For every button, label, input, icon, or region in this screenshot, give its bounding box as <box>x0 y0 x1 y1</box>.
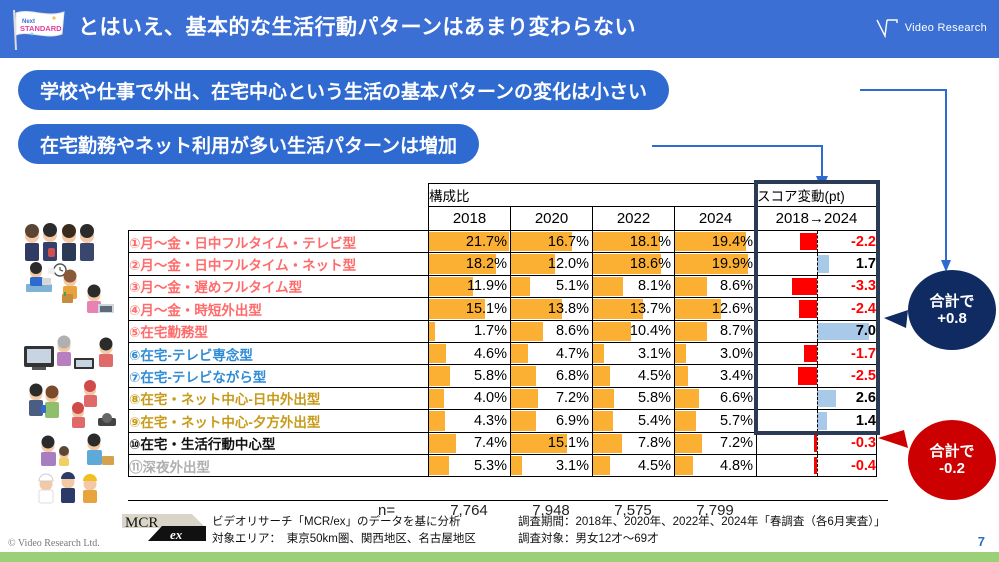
cell-value: 18.1% <box>593 231 675 253</box>
value-text: 21.7% <box>466 234 510 250</box>
cell-score-change: -2.5 <box>757 365 877 387</box>
data-table-wrapper: 構成比 スコア変動(pt) 2018 2020 2022 2024 2018→2… <box>128 183 877 477</box>
illus-office-worker <box>26 262 66 292</box>
zero-axis <box>817 388 818 409</box>
value-bar <box>429 411 445 430</box>
value-bar <box>429 344 446 363</box>
cell-value: 5.4% <box>593 410 675 432</box>
value-text: 18.6% <box>630 256 674 272</box>
value-bar <box>675 322 707 341</box>
value-text: 19.4% <box>712 234 756 250</box>
next-standard-flag-icon: Next STANDARD <box>8 6 70 52</box>
zero-axis <box>817 343 818 364</box>
illus-night-workers <box>39 472 97 503</box>
table-row: ⑥在宅-テレビ専念型4.6%4.7%3.1%3.0%-1.7 <box>129 342 877 364</box>
cell-value: 5.3% <box>429 454 511 476</box>
table-row: ③月～金・遅めフルタイム型11.9%5.1%8.1%8.6%-3.3 <box>129 275 877 297</box>
value-bar <box>675 366 688 385</box>
value-text: 7.2% <box>720 435 756 451</box>
zero-axis <box>817 455 818 476</box>
cell-value: 7.4% <box>429 432 511 454</box>
value-bar <box>593 411 613 430</box>
cell-value: 3.1% <box>511 454 593 476</box>
cell-value: 7.8% <box>593 432 675 454</box>
value-text: 19.9% <box>712 256 756 272</box>
table-row: ⑨在宅・ネット中心-夕方外出型4.3%6.9%5.4%5.7%1.4 <box>129 410 877 432</box>
footer-note-a1: ビデオリサーチ「MCR/ex」のデータを基に分析 <box>212 514 476 531</box>
value-text: 3.1% <box>638 346 674 362</box>
value-text: 8.6% <box>556 323 592 339</box>
cell-value: 8.6% <box>511 320 593 342</box>
table-row: ⑩在宅・生活行動中心型7.4%15.1%7.8%7.2%-0.3 <box>129 432 877 454</box>
life-pattern-table: 構成比 スコア変動(pt) 2018 2020 2022 2024 2018→2… <box>128 183 877 477</box>
score-text: -0.3 <box>851 435 876 451</box>
value-text: 1.7% <box>474 323 510 339</box>
bubble-positive-line1: 合計で <box>929 293 974 310</box>
cell-score-change: 7.0 <box>757 320 877 342</box>
value-text: 4.3% <box>474 413 510 429</box>
cell-value: 5.8% <box>429 365 511 387</box>
value-bar <box>675 344 686 363</box>
value-bar <box>593 277 623 296</box>
cell-score-change: 1.4 <box>757 410 877 432</box>
table-row: ①月～金・日中フルタイム・テレビ型21.7%16.7%18.1%19.4%-2.… <box>129 231 877 253</box>
row-label: ⑤在宅勤務型 <box>129 320 429 342</box>
cell-value: 6.9% <box>511 410 593 432</box>
footer-note-a2: 対象エリア： 東京50km圏、関西地区、名古屋地区 <box>212 531 476 548</box>
page-number: 7 <box>978 534 985 549</box>
cell-value: 8.6% <box>675 275 757 297</box>
brand-name: Video Research <box>905 22 987 34</box>
value-bar <box>675 411 696 430</box>
row-label: ⑩在宅・生活行動中心型 <box>129 432 429 454</box>
value-text: 6.8% <box>556 368 592 384</box>
score-text: -1.7 <box>851 346 876 362</box>
value-bar <box>675 456 693 475</box>
page-header: Next STANDARD とはいえ、基本的な生活行動パターンはあまり変わらない… <box>0 0 999 58</box>
value-bar <box>511 366 536 385</box>
cell-value: 15.1% <box>429 298 511 320</box>
table-group-header-row: 構成比 スコア変動(pt) <box>129 184 877 207</box>
value-bar <box>593 344 604 363</box>
value-text: 4.8% <box>720 458 756 474</box>
value-bar <box>511 411 536 430</box>
cell-score-change: 2.6 <box>757 387 877 409</box>
score-text: 7.0 <box>856 323 876 339</box>
value-bar <box>429 456 449 475</box>
illus-net-users <box>29 380 116 428</box>
value-text: 13.8% <box>548 301 592 317</box>
score-bar <box>798 367 817 384</box>
value-text: 8.1% <box>638 278 674 294</box>
svg-text:ex: ex <box>170 527 183 542</box>
header-year-2020: 2020 <box>511 207 593 231</box>
cell-value: 1.7% <box>429 320 511 342</box>
row-label: ⑦在宅-テレビながら型 <box>129 365 429 387</box>
cell-value: 4.6% <box>429 342 511 364</box>
persona-illustration-svg <box>18 222 124 504</box>
cell-value: 11.9% <box>429 275 511 297</box>
cell-score-change: -0.3 <box>757 432 877 454</box>
footer-note-a: ビデオリサーチ「MCR/ex」のデータを基に分析 対象エリア： 東京50km圏、… <box>212 514 476 549</box>
zero-axis <box>817 253 818 274</box>
row-label: ⑪深夜外出型 <box>129 454 429 476</box>
illus-shopper <box>62 270 77 304</box>
cell-value: 4.0% <box>429 387 511 409</box>
copyright-text: © Video Research Ltd. <box>8 538 100 549</box>
cell-value: 4.3% <box>429 410 511 432</box>
cell-value: 6.6% <box>675 387 757 409</box>
cell-value: 18.2% <box>429 253 511 275</box>
value-text: 4.5% <box>638 458 674 474</box>
table-row: ⑤在宅勤務型1.7%8.6%10.4%8.7%7.0 <box>129 320 877 342</box>
value-text: 6.6% <box>720 390 756 406</box>
cell-value: 5.1% <box>511 275 593 297</box>
cell-score-change: -0.4 <box>757 454 877 476</box>
cell-value: 4.7% <box>511 342 593 364</box>
row-label: ⑥在宅-テレビ専念型 <box>129 342 429 364</box>
value-text: 6.9% <box>556 413 592 429</box>
value-text: 5.7% <box>720 413 756 429</box>
value-text: 5.4% <box>638 413 674 429</box>
value-text: 18.1% <box>630 234 674 250</box>
cell-value: 15.1% <box>511 432 593 454</box>
value-text: 7.8% <box>638 435 674 451</box>
value-bar <box>511 344 528 363</box>
value-text: 3.4% <box>720 368 756 384</box>
value-text: 8.6% <box>720 278 756 294</box>
footer-band <box>0 552 999 562</box>
cell-value: 19.4% <box>675 231 757 253</box>
svg-text:STANDARD: STANDARD <box>20 24 62 33</box>
illus-family <box>41 434 114 467</box>
table-row: ⑧在宅・ネット中心-日中外出型4.0%7.2%5.8%6.6%2.6 <box>129 387 877 409</box>
score-text: 2.6 <box>856 390 876 406</box>
value-text: 5.3% <box>474 458 510 474</box>
score-text: 1.4 <box>856 413 876 429</box>
header-year-2024: 2024 <box>675 207 757 231</box>
value-bar <box>593 434 622 453</box>
header-score-range: 2018→2024 <box>757 207 877 231</box>
score-text: -0.4 <box>851 458 876 474</box>
row-label: ④月～金・時短外出型 <box>129 298 429 320</box>
value-text: 8.7% <box>720 323 756 339</box>
row-label: ③月～金・遅めフルタイム型 <box>129 275 429 297</box>
summary-bubble-positive: 合計で +0.8 <box>908 270 996 350</box>
score-bar <box>792 278 817 295</box>
zero-axis <box>817 298 818 319</box>
zero-axis <box>817 231 818 252</box>
value-bar <box>593 322 631 341</box>
row-label: ⑨在宅・ネット中心-夕方外出型 <box>129 410 429 432</box>
value-bar <box>511 389 538 408</box>
cell-value: 18.6% <box>593 253 675 275</box>
value-text: 7.2% <box>556 390 592 406</box>
score-bar <box>817 390 836 407</box>
cell-value: 8.7% <box>675 320 757 342</box>
value-text: 16.7% <box>548 234 592 250</box>
value-text: 12.0% <box>548 256 592 272</box>
row-label: ②月～金・日中フルタイム・ネット型 <box>129 253 429 275</box>
cell-score-change: -2.4 <box>757 298 877 320</box>
callout-pill-1: 学校や仕事で外出、在宅中心という生活の基本パターンの変化は小さい <box>18 70 669 110</box>
value-text: 13.7% <box>630 301 674 317</box>
value-text: 3.1% <box>556 458 592 474</box>
footer-note-b: 調査期間：2018年、2020年、2022年、2024年「春調査（各6月実査）」… <box>518 514 885 549</box>
cell-value: 13.8% <box>511 298 593 320</box>
value-text: 4.6% <box>474 346 510 362</box>
cell-value: 5.7% <box>675 410 757 432</box>
cell-value: 6.8% <box>511 365 593 387</box>
header-year-2022: 2022 <box>593 207 675 231</box>
score-text: 1.7 <box>856 256 876 272</box>
value-bar <box>429 366 450 385</box>
value-bar <box>429 434 456 453</box>
value-bar <box>675 389 699 408</box>
value-bar <box>593 456 610 475</box>
value-text: 15.1% <box>466 301 510 317</box>
score-bar <box>799 300 817 317</box>
value-text: 12.6% <box>712 301 756 317</box>
zero-axis <box>817 365 818 386</box>
zero-axis <box>817 433 818 454</box>
header-score-change: スコア変動(pt) <box>757 184 877 207</box>
illus-tv-viewers <box>24 336 113 371</box>
bubble-negative-line1: 合計で <box>929 443 974 460</box>
summary-bubble-negative: 合計で -0.2 <box>908 420 996 500</box>
value-bar <box>511 277 530 296</box>
value-text: 7.4% <box>474 435 510 451</box>
cell-score-change: -1.7 <box>757 342 877 364</box>
cell-value: 4.5% <box>593 454 675 476</box>
svg-text:MCR: MCR <box>125 515 158 531</box>
header-spacer <box>129 184 429 207</box>
video-research-mark-icon <box>875 18 899 38</box>
cell-value: 19.9% <box>675 253 757 275</box>
callout-pill-2: 在宅勤務やネット利用が多い生活パターンは増加 <box>18 124 479 164</box>
score-text: -2.5 <box>851 368 876 384</box>
score-bar <box>804 345 817 362</box>
cell-value: 4.5% <box>593 365 675 387</box>
cell-value: 4.8% <box>675 454 757 476</box>
score-text: -2.4 <box>851 301 876 317</box>
score-bar <box>817 255 830 272</box>
value-text: 15.1% <box>548 435 592 451</box>
value-text: 5.8% <box>474 368 510 384</box>
header-spacer-2 <box>129 207 429 231</box>
cell-value: 5.8% <box>593 387 675 409</box>
cell-score-change: 1.7 <box>757 253 877 275</box>
illus-laptop-user <box>87 285 114 314</box>
table-year-header-row: 2018 2020 2022 2024 2018→2024 <box>129 207 877 231</box>
value-text: 18.2% <box>466 256 510 272</box>
row-label: ①月～金・日中フルタイム・テレビ型 <box>129 231 429 253</box>
value-bar <box>675 434 702 453</box>
score-bar <box>800 233 816 250</box>
value-text: 5.8% <box>638 390 674 406</box>
cell-value: 13.7% <box>593 298 675 320</box>
header-year-2018: 2018 <box>429 207 511 231</box>
cell-value: 7.2% <box>511 387 593 409</box>
table-row: ⑦在宅-テレビながら型5.8%6.8%4.5%3.4%-2.5 <box>129 365 877 387</box>
value-text: 4.5% <box>638 368 674 384</box>
score-bar <box>817 412 827 429</box>
zero-axis <box>817 276 818 297</box>
n-row-divider <box>128 500 888 501</box>
cell-value: 16.7% <box>511 231 593 253</box>
brand-logo: Video Research <box>875 18 987 38</box>
cell-value: 8.1% <box>593 275 675 297</box>
value-bar <box>429 389 444 408</box>
table-row: ⑪深夜外出型5.3%3.1%4.5%4.8%-0.4 <box>129 454 877 476</box>
footer-note-b2: 調査対象：男女12才～69才 <box>518 531 885 548</box>
value-text: 4.7% <box>556 346 592 362</box>
value-bar <box>511 322 543 341</box>
cell-value: 3.4% <box>675 365 757 387</box>
cell-value: 7.2% <box>675 432 757 454</box>
cell-score-change: -3.3 <box>757 275 877 297</box>
score-text: -3.3 <box>851 278 876 294</box>
value-text: 4.0% <box>474 390 510 406</box>
value-bar <box>593 366 610 385</box>
score-text: -2.2 <box>851 234 876 250</box>
value-bar <box>511 456 522 475</box>
table-row: ④月～金・時短外出型15.1%13.8%13.7%12.6%-2.4 <box>129 298 877 320</box>
cell-score-change: -2.2 <box>757 231 877 253</box>
mcr-ex-logo: MCR ex <box>122 512 206 542</box>
value-text: 5.1% <box>556 278 592 294</box>
footer-note-b1: 調査期間：2018年、2020年、2022年、2024年「春調査（各6月実査）」 <box>518 514 885 531</box>
cell-value: 3.0% <box>675 342 757 364</box>
zero-axis <box>817 410 818 431</box>
cell-value: 21.7% <box>429 231 511 253</box>
bubble-positive-line2: +0.8 <box>937 310 967 327</box>
zero-axis <box>817 321 818 342</box>
persona-illustrations <box>18 222 124 504</box>
value-bar <box>593 389 614 408</box>
table-body: ①月～金・日中フルタイム・テレビ型21.7%16.7%18.1%19.4%-2.… <box>129 231 877 477</box>
value-text: 11.9% <box>467 278 510 294</box>
bubble-negative-line2: -0.2 <box>939 460 965 477</box>
value-text: 3.0% <box>720 346 756 362</box>
header-composition: 構成比 <box>429 184 757 207</box>
illus-commuters <box>25 223 94 261</box>
cell-value: 3.1% <box>593 342 675 364</box>
value-bar <box>675 277 707 296</box>
value-text: 10.4% <box>630 323 674 339</box>
page-title: とはいえ、基本的な生活行動パターンはあまり変わらない <box>78 11 636 41</box>
cell-value: 10.4% <box>593 320 675 342</box>
cell-value: 12.0% <box>511 253 593 275</box>
table-row: ②月～金・日中フルタイム・ネット型18.2%12.0%18.6%19.9%1.7 <box>129 253 877 275</box>
row-label: ⑧在宅・ネット中心-日中外出型 <box>129 387 429 409</box>
cell-value: 12.6% <box>675 298 757 320</box>
value-bar <box>429 322 435 341</box>
